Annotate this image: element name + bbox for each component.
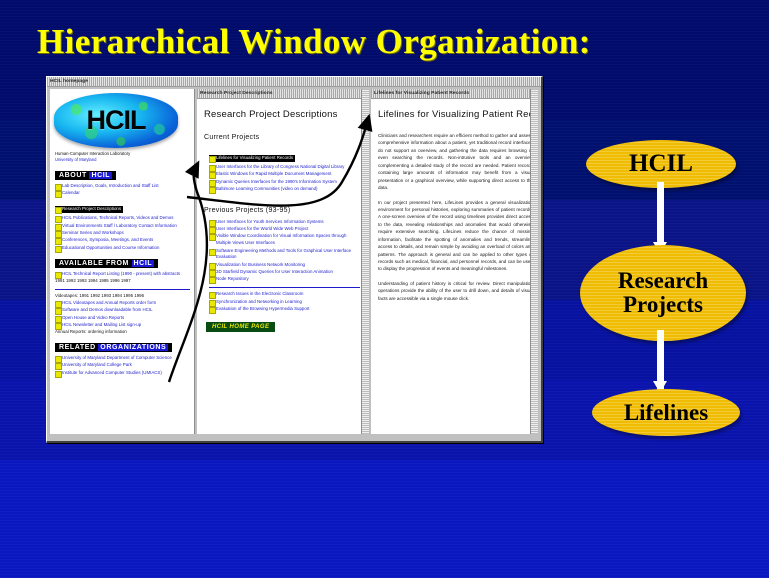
list-item[interactable]: Conferences, Symposia, Meetings, and Eve… — [55, 237, 190, 244]
available-link-list: HCIL Technical Report Listing (1990 - pr… — [50, 271, 194, 336]
research-window-titlebar[interactable]: Research Project Descriptions — [197, 89, 369, 99]
divider — [209, 287, 360, 288]
section-header-about: ABOUT HCIL — [55, 171, 116, 180]
lifelines-paragraph: Clinicians and researchers require an ef… — [378, 132, 533, 192]
diagram-node-lifelines-label: Lifelines — [624, 401, 708, 425]
diagram-node-hcil-label: HCIL — [629, 151, 693, 177]
divider — [55, 289, 190, 290]
diagram-node-research-projects[interactable]: Research Projects — [580, 245, 746, 341]
embedded-screenshot: HCIL homepage HCIL Human-Computer Intera… — [46, 76, 543, 443]
list-item-selected[interactable]: Research Project Descriptions — [55, 206, 123, 213]
research-window-title: Research Project Descriptions — [197, 89, 273, 97]
list-item[interactable]: User Interfaces for the Library of Congr… — [209, 164, 360, 171]
research-projects-window[interactable]: Research Project Descriptions Research P… — [195, 89, 369, 434]
arrow-shaft — [657, 330, 664, 381]
list-item[interactable]: Software and Demos downloadable from HCI… — [55, 307, 190, 314]
section-header-available: AVAILABLE FROM HCIL — [55, 259, 158, 268]
logo-caption: Human-Computer Interaction Laboratory Un… — [50, 150, 194, 164]
previous-projects-list: User Interfaces for Youth Services Infor… — [204, 219, 364, 313]
current-projects-list: Lifelines for Visualizing Patient Record… — [204, 146, 364, 193]
lifelines-window-titlebar[interactable]: Lifelines for Visualizing Patient Record… — [371, 89, 538, 99]
diagram-node-research-projects-label: Research Projects — [618, 269, 708, 316]
list-item[interactable]: HCIL Technical Report Listing (1990 - pr… — [55, 271, 190, 278]
list-item[interactable]: Virtual Environments Staff / Laboratory … — [55, 223, 190, 230]
list-item[interactable]: HCIL Newsletter and Mailing List sign-up — [55, 322, 190, 329]
list-item[interactable]: University of Maryland Department of Com… — [55, 355, 190, 362]
list-item[interactable]: Institute for Advanced Computer Studies … — [55, 370, 190, 377]
diagram-node-research-line1: Research — [618, 268, 708, 293]
hcil-logo-area: HCIL — [50, 89, 194, 150]
list-item[interactable]: User Interfaces for the World Wide Web P… — [209, 226, 360, 233]
lifelines-paragraph: In our project presented here, LifeLines… — [378, 199, 533, 273]
arrow-shaft — [657, 182, 664, 242]
research-heading: Research Project Descriptions — [204, 109, 364, 120]
static-text: Annual Reports: ordering information — [55, 329, 190, 336]
section-header-related-primary: RELATED — [59, 344, 96, 351]
list-item[interactable]: Calendar — [55, 190, 190, 197]
outer-window-title: HCIL homepage — [47, 77, 88, 85]
research-window-content: Research Project Descriptions Current Pr… — [197, 99, 369, 333]
hcil-logo-text: HCIL — [54, 93, 178, 148]
section-header-available-primary: AVAILABLE FROM — [59, 260, 129, 267]
scrollbar[interactable] — [361, 89, 369, 434]
lifelines-window[interactable]: Lifelines for Visualizing Patient Record… — [369, 89, 538, 434]
list-item-selected[interactable]: Lifelines for Visualizing Patient Record… — [209, 155, 295, 162]
list-item[interactable]: Node Repository — [209, 276, 360, 283]
related-link-list: University of Maryland Department of Com… — [50, 355, 194, 376]
section-header-about-highlight: HCIL — [89, 172, 112, 179]
list-item[interactable]: Synchronization and Networking in Learni… — [209, 299, 360, 306]
page-title: Hierarchical Window Organization: — [37, 22, 591, 62]
research-subheading-previous: Previous Projects (93-95) — [204, 207, 364, 214]
list-item[interactable]: Evaluation of the Browsing Hypermedia Su… — [209, 306, 360, 313]
about-link-list: Lab Description, Goals, Introduction and… — [50, 183, 194, 252]
list-item[interactable]: Software Engineering Methods and Tools f… — [209, 248, 360, 262]
section-header-related: RELATED ORGANIZATIONS — [55, 343, 172, 352]
outer-window-titlebar[interactable]: HCIL homepage — [47, 77, 541, 87]
list-item[interactable]: Educational Opportunities and Course Inf… — [55, 245, 190, 252]
diagram-arrow-hcil-to-research — [657, 182, 664, 254]
list-item[interactable]: Elastic Windows for Rapid Multiple Docum… — [209, 171, 360, 178]
static-text: 1991 1992 1993 1994 1995 1996 1997 — [55, 278, 190, 285]
lifelines-window-title: Lifelines for Visualizing Patient Record… — [371, 89, 469, 97]
list-item[interactable]: HCIL Publications, Technical Reports, Vi… — [55, 215, 190, 222]
list-item[interactable]: University of Maryland College Park — [55, 362, 190, 369]
hcil-home-page-button[interactable]: HCIL HOME PAGE — [206, 322, 275, 332]
diagram-node-hcil[interactable]: HCIL — [586, 140, 736, 188]
scrollbar[interactable] — [530, 89, 538, 434]
diagram-node-lifelines[interactable]: Lifelines — [592, 389, 740, 436]
list-item[interactable]: Dynamic Queries Interfaces for the 1990'… — [209, 179, 360, 186]
list-item[interactable]: User Interfaces for Youth Services Infor… — [209, 219, 360, 226]
list-item[interactable]: 3D Starfield Dynamic Queries for User In… — [209, 269, 360, 276]
lifelines-heading: Lifelines for Visualizing Patient Record… — [378, 109, 533, 120]
lifelines-paragraph: Understanding of patient history is crit… — [378, 280, 533, 302]
logo-caption-line2: University of Maryland — [55, 157, 189, 163]
list-item[interactable]: Seminar Series and Workshops — [55, 230, 190, 237]
section-header-available-highlight: HCIL — [132, 260, 155, 267]
list-item[interactable]: Visualization for Business Network Monit… — [209, 262, 360, 269]
section-header-about-primary: ABOUT — [59, 172, 87, 179]
list-item[interactable]: Lab Description, Goals, Introduction and… — [55, 183, 190, 190]
list-item[interactable]: Baltimore Learning Communities (video on… — [209, 186, 360, 193]
list-item[interactable]: Visible Window Coordination for Visual I… — [209, 233, 360, 247]
research-subheading-current: Current Projects — [204, 134, 364, 141]
list-item[interactable]: Research Issues in the Electronic Classr… — [209, 291, 360, 298]
diagram-node-research-line2: Projects — [623, 292, 703, 317]
section-header-related-highlight: ORGANIZATIONS — [98, 344, 168, 351]
list-item[interactable]: HCIL Videotapes and Annual Reports order… — [55, 300, 190, 307]
hcil-logo-icon: HCIL — [54, 93, 178, 148]
hcil-homepage-pane[interactable]: HCIL Human-Computer Interaction Laborato… — [50, 89, 195, 434]
list-item[interactable]: Open House and Video Reports — [55, 315, 190, 322]
diagram-arrow-research-to-lifelines — [657, 330, 664, 393]
static-text: Videotapes: 1991 1992 1993 1994 1995 199… — [55, 293, 190, 300]
lifelines-window-content: Lifelines for Visualizing Patient Record… — [371, 99, 538, 302]
